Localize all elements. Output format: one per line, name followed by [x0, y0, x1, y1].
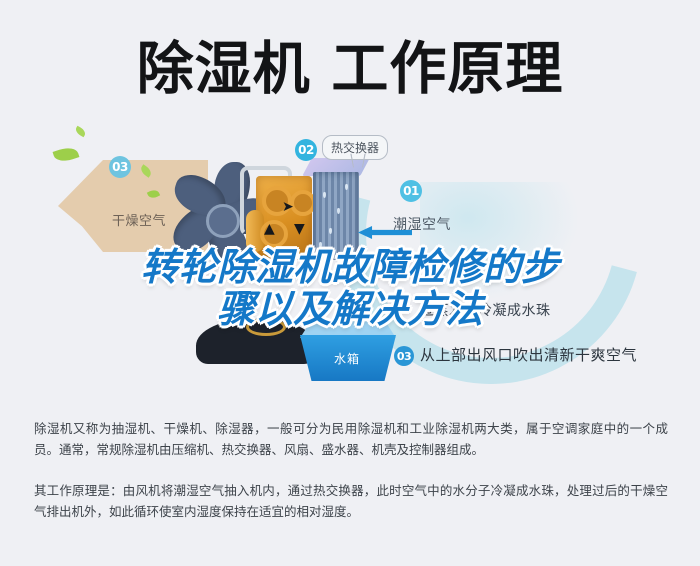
dehumidifier-diagram: 干燥空气 ➤ ▲ ▼ — [0, 122, 700, 390]
water-tank-label: 水箱 — [334, 350, 360, 367]
body-paragraph-2: 其工作原理是：由风机将潮湿空气抽入机内，通过热交换器，此时空气中的水分子冷凝成水… — [34, 480, 668, 522]
machine-base-ring-icon — [246, 318, 286, 336]
heat-exchanger-icon — [305, 158, 367, 266]
badge-step-02-heat-exchanger: 02 — [295, 139, 317, 161]
header: 除湿机 工作原理 — [0, 28, 700, 110]
humid-air-label: 潮湿空气 — [393, 214, 451, 234]
leaf-icon — [74, 126, 87, 138]
leaf-icon — [53, 145, 80, 165]
badge-step-01-humid-air: 01 — [400, 180, 422, 202]
dry-air-label: 干燥空气 — [112, 210, 166, 229]
page-root: 除湿机 工作原理 干燥空气 ➤ ▲ — [0, 0, 700, 566]
article-body: 除湿机又称为抽湿机、干燥机、除湿器，一般可分为民用除湿机和工业除湿机两大类，属于… — [34, 418, 668, 522]
water-tank-icon: 水箱 — [300, 320, 396, 382]
badge-step-03-outlet: 03 — [394, 346, 414, 366]
fan-hub-icon — [206, 204, 240, 238]
step-03-text: 从上部出风口吹出清新干爽空气 — [420, 344, 637, 365]
air-flow-glow-icon — [420, 182, 580, 302]
body-paragraph-1: 除湿机又称为抽湿机、干燥机、除湿器，一般可分为民用除湿机和工业除湿机两大类，属于… — [34, 418, 668, 460]
badge-step-03-dry-air: 03 — [109, 156, 131, 178]
page-title: 除湿机 工作原理 — [137, 38, 564, 100]
step-02-text: 过蒸发器冷凝成水珠 — [420, 300, 551, 320]
